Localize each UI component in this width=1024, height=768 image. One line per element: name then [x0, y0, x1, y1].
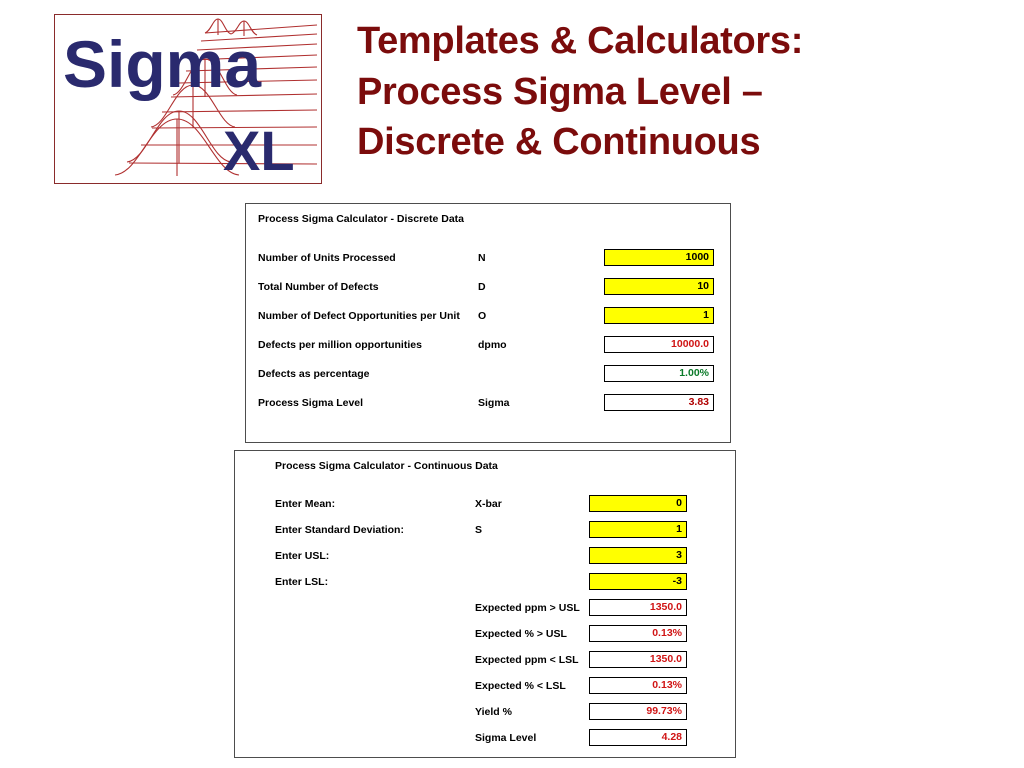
- row-symbol: Expected % < LSL: [475, 680, 566, 692]
- table-row: Number of Units Processed N 1000: [246, 249, 730, 267]
- table-row: Enter Mean: X-bar 0: [235, 495, 735, 513]
- row-symbol: N: [478, 252, 486, 264]
- table-row: Enter USL: 3: [235, 547, 735, 565]
- table-row: Expected ppm < LSL 1350.0: [235, 651, 735, 669]
- defects-percentage-value: 1.00%: [604, 365, 714, 382]
- units-processed-input[interactable]: 1000: [604, 249, 714, 266]
- row-label: Defects per million opportunities: [258, 339, 422, 351]
- table-row: Expected % > USL 0.13%: [235, 625, 735, 643]
- table-row: Total Number of Defects D 10: [246, 278, 730, 296]
- title-line-3: Discrete & Continuous: [357, 117, 997, 168]
- dpmo-value: 10000.0: [604, 336, 714, 353]
- row-symbol: O: [478, 310, 486, 322]
- row-symbol: dpmo: [478, 339, 507, 351]
- logo-word-xl: XL: [223, 119, 295, 181]
- row-label: Defects as percentage: [258, 368, 369, 380]
- discrete-calculator-panel: Process Sigma Calculator - Discrete Data…: [245, 203, 731, 443]
- row-symbol: Yield %: [475, 706, 512, 718]
- row-label: Number of Defect Opportunities per Unit: [258, 310, 460, 322]
- sigmaxl-logo: Sigma XL: [54, 14, 322, 184]
- row-label: Number of Units Processed: [258, 252, 396, 264]
- table-row: Expected ppm > USL 1350.0: [235, 599, 735, 617]
- row-symbol: D: [478, 281, 486, 293]
- row-label: Enter LSL:: [275, 576, 328, 588]
- mean-input[interactable]: 0: [589, 495, 687, 512]
- expected-percent-below-lsl-value: 0.13%: [589, 677, 687, 694]
- total-defects-input[interactable]: 10: [604, 278, 714, 295]
- table-row: Defects as percentage 1.00%: [246, 365, 730, 383]
- sigma-level-value: 4.28: [589, 729, 687, 746]
- row-symbol: Sigma: [478, 397, 510, 409]
- yield-percent-value: 99.73%: [589, 703, 687, 720]
- row-label: Enter Mean:: [275, 498, 335, 510]
- table-row: Defects per million opportunities dpmo 1…: [246, 336, 730, 354]
- row-symbol: Expected ppm > USL: [475, 602, 580, 614]
- title-line-1: Templates & Calculators:: [357, 16, 997, 67]
- table-row: Expected % < LSL 0.13%: [235, 677, 735, 695]
- title-line-2: Process Sigma Level –: [357, 67, 997, 118]
- table-row: Sigma Level 4.28: [235, 729, 735, 747]
- table-row: Process Sigma Level Sigma 3.83: [246, 394, 730, 412]
- table-row: Enter Standard Deviation: S 1: [235, 521, 735, 539]
- row-symbol: S: [475, 524, 482, 536]
- row-label: Enter Standard Deviation:: [275, 524, 404, 536]
- continuous-panel-title: Process Sigma Calculator - Continuous Da…: [275, 460, 498, 472]
- table-row: Number of Defect Opportunities per Unit …: [246, 307, 730, 325]
- row-label: Enter USL:: [275, 550, 329, 562]
- table-row: Enter LSL: -3: [235, 573, 735, 591]
- row-symbol: Expected ppm < LSL: [475, 654, 579, 666]
- row-label: Total Number of Defects: [258, 281, 379, 293]
- discrete-panel-title: Process Sigma Calculator - Discrete Data: [258, 213, 464, 225]
- stdev-input[interactable]: 1: [589, 521, 687, 538]
- continuous-calculator-panel: Process Sigma Calculator - Continuous Da…: [234, 450, 736, 758]
- expected-ppm-above-usl-value: 1350.0: [589, 599, 687, 616]
- expected-percent-above-usl-value: 0.13%: [589, 625, 687, 642]
- table-row: Yield % 99.73%: [235, 703, 735, 721]
- logo-artwork: Sigma XL: [55, 15, 319, 181]
- row-symbol: Expected % > USL: [475, 628, 567, 640]
- expected-ppm-below-lsl-value: 1350.0: [589, 651, 687, 668]
- usl-input[interactable]: 3: [589, 547, 687, 564]
- row-symbol: Sigma Level: [475, 732, 536, 744]
- logo-word-sigma: Sigma: [63, 27, 262, 101]
- defect-opportunities-input[interactable]: 1: [604, 307, 714, 324]
- lsl-input[interactable]: -3: [589, 573, 687, 590]
- row-symbol: X-bar: [475, 498, 502, 510]
- page-title: Templates & Calculators: Process Sigma L…: [357, 16, 997, 168]
- row-label: Process Sigma Level: [258, 397, 363, 409]
- process-sigma-level-value: 3.83: [604, 394, 714, 411]
